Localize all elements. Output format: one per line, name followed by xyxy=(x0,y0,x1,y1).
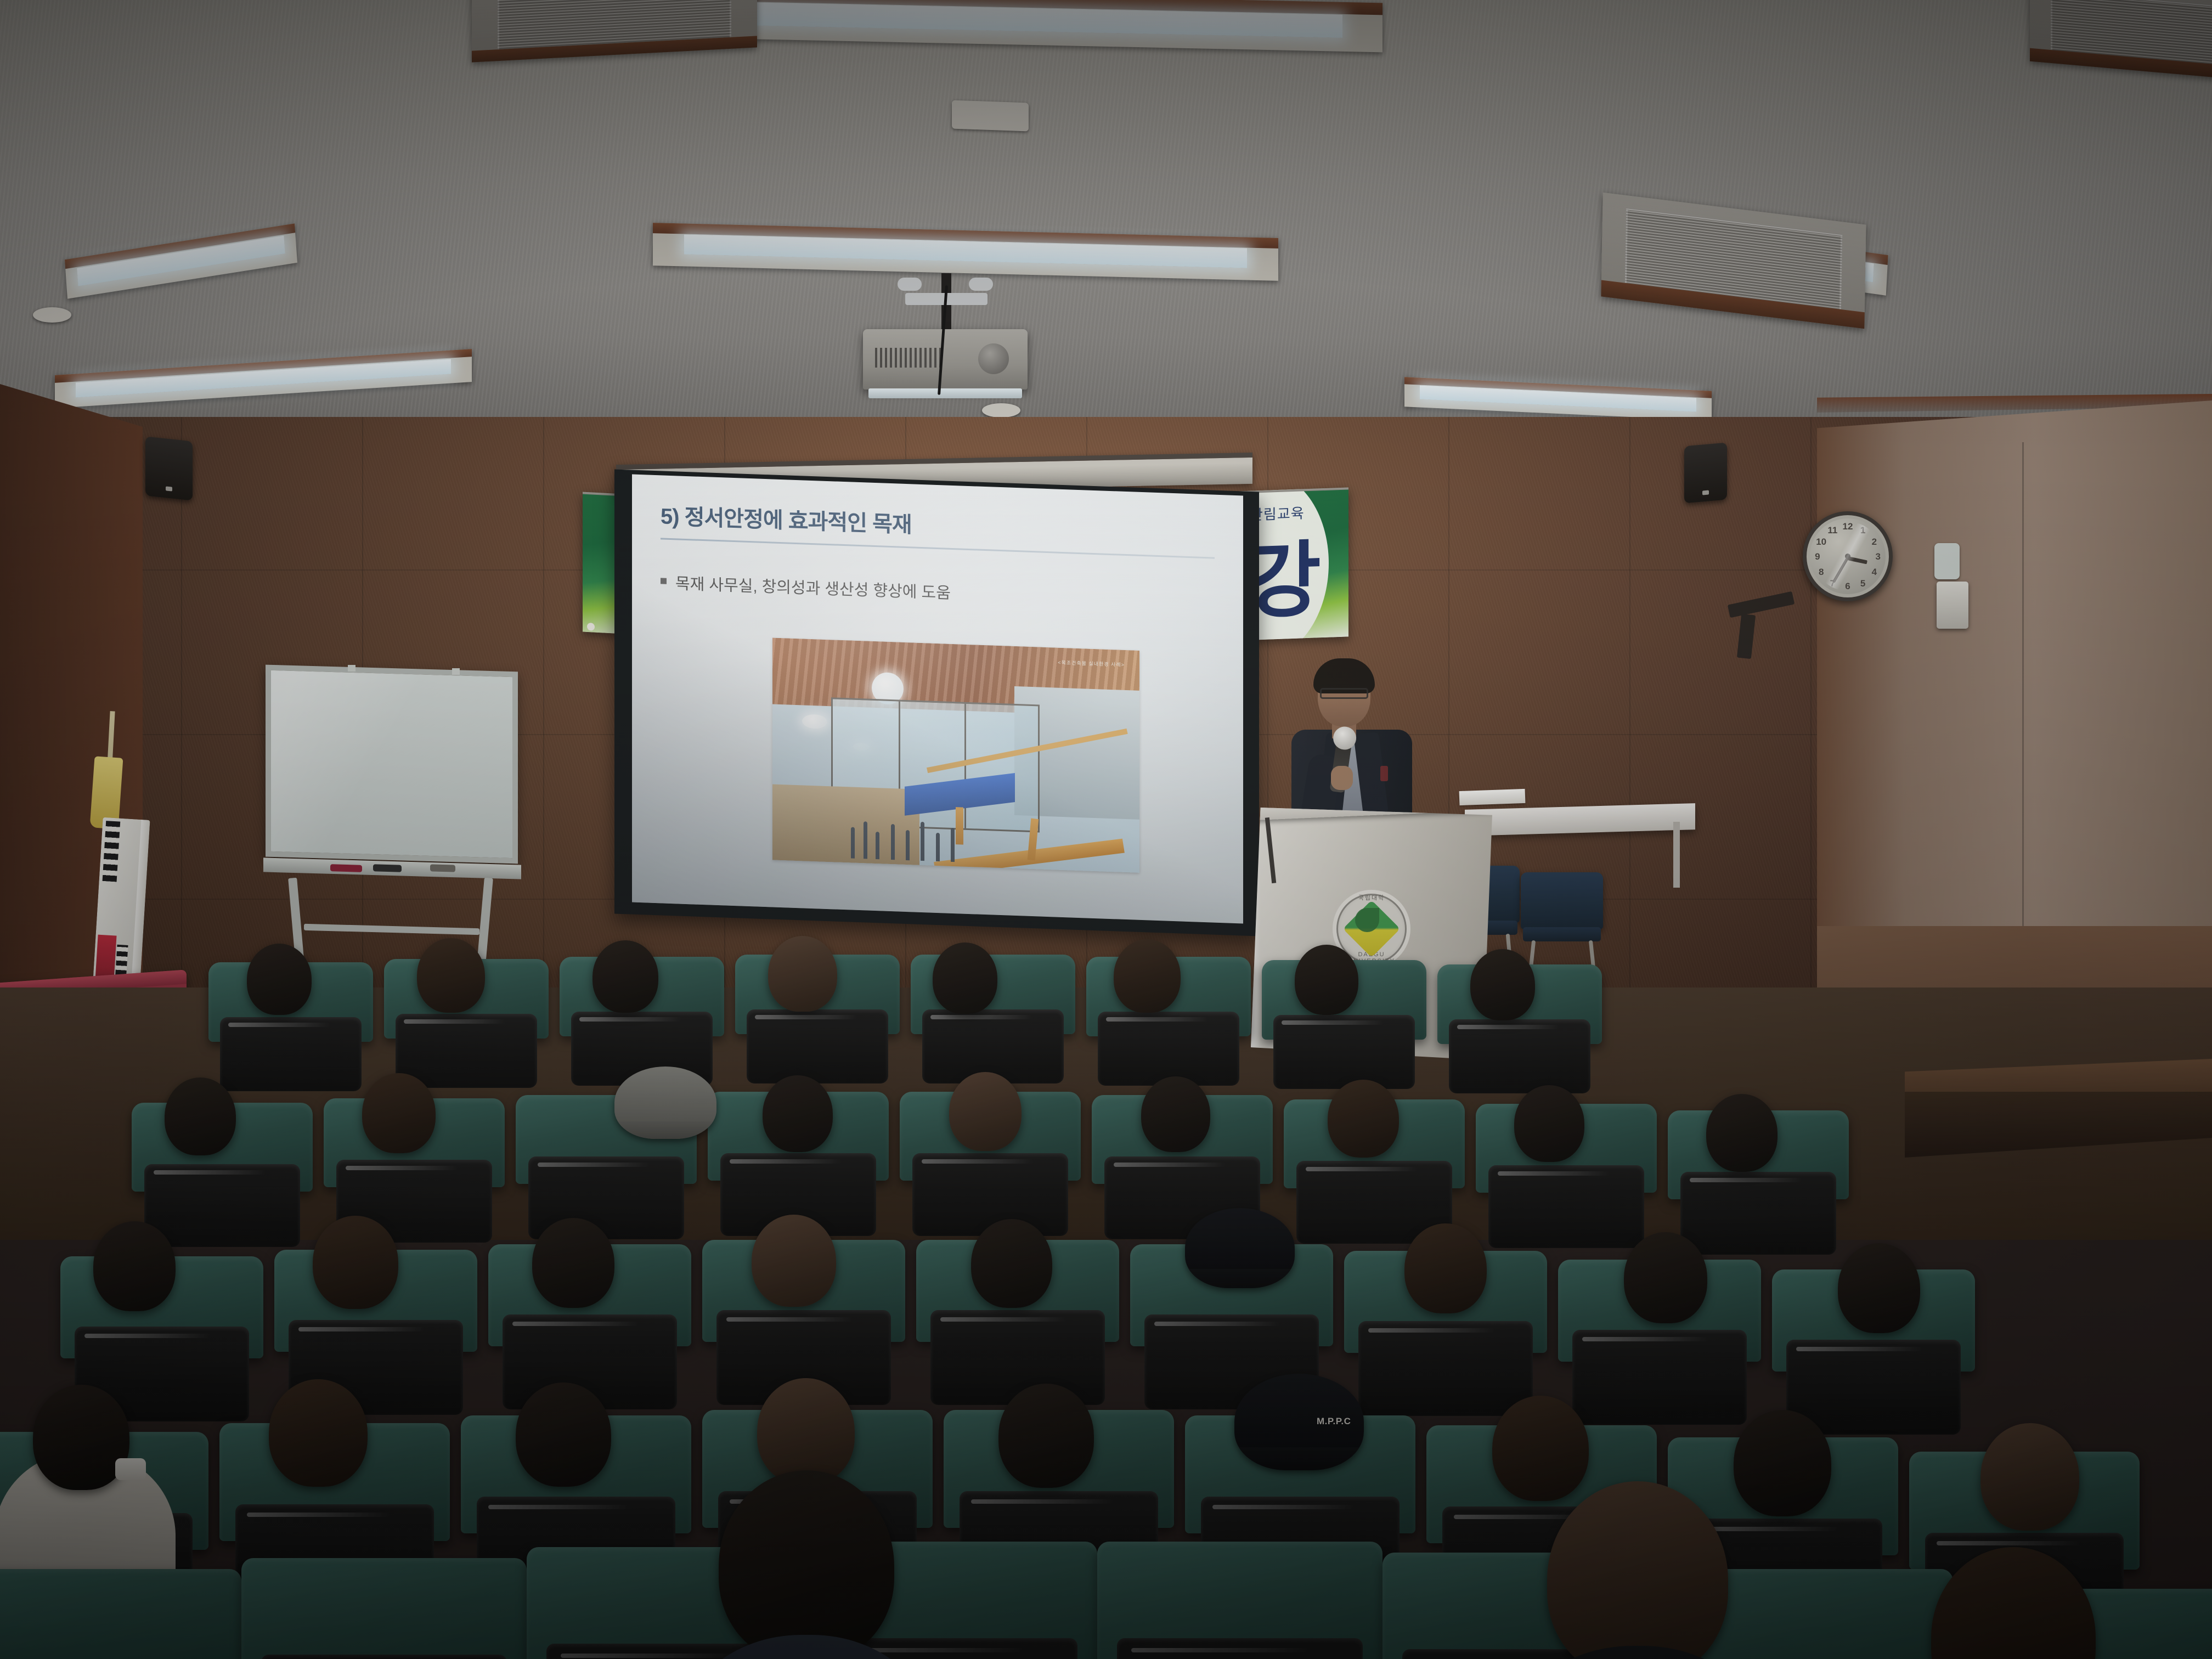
audience-head xyxy=(1980,1423,2079,1531)
audience-head xyxy=(269,1379,368,1487)
projection-screen: 5) 정서안정에 효과적인 목재 목재 사무실, 창의성과 생산성 향상에 도움… xyxy=(632,475,1243,924)
audience-head xyxy=(1404,1223,1487,1313)
photo-mullion xyxy=(964,704,966,828)
audience-head xyxy=(933,943,997,1014)
lecture-hall-photo: 12 1 2 3 4 5 6 7 8 9 10 11 xyxy=(0,0,2212,1659)
clock-face: 12 1 2 3 4 5 6 7 8 9 10 11 xyxy=(1810,518,1886,594)
chair-seat xyxy=(1523,927,1601,941)
cap-brim xyxy=(1185,1269,1295,1288)
slide-bullet-row: 목재 사무실, 창의성과 생산성 향상에 도움 xyxy=(661,570,1215,612)
banner-bead xyxy=(587,623,595,631)
slide-bullet-text: 목재 사무실, 창의성과 생산성 향상에 도움 xyxy=(675,571,951,603)
wall-mounted-box xyxy=(1937,582,1968,629)
whiteboard-marker-black[interactable] xyxy=(373,864,402,872)
photo-people-group xyxy=(846,814,970,862)
audience-head xyxy=(1470,949,1535,1020)
audience-head xyxy=(313,1216,398,1309)
audience-head xyxy=(757,1378,855,1485)
photo-pendant-lamp xyxy=(802,714,827,730)
projector-base xyxy=(868,388,1022,398)
audience-head xyxy=(532,1218,614,1308)
ceiling xyxy=(0,0,2212,450)
projector-bracket xyxy=(969,278,993,291)
papers-on-table xyxy=(1459,789,1526,805)
face-mask xyxy=(115,1458,146,1480)
audience-head xyxy=(1141,1076,1210,1152)
whiteboard xyxy=(266,665,518,864)
audience-head xyxy=(949,1072,1022,1151)
audience-cap-grey xyxy=(614,1066,716,1139)
projector-lens-icon xyxy=(978,343,1009,374)
speaker-led-icon xyxy=(166,486,172,491)
speaker-led-icon xyxy=(1702,490,1709,495)
wall-speaker-left xyxy=(145,436,193,500)
cap-brim xyxy=(1234,1447,1364,1470)
audience-head xyxy=(362,1073,436,1153)
presenter-hand xyxy=(1331,766,1353,790)
clock-glass-reflection xyxy=(1813,522,1882,591)
chair-back xyxy=(1521,872,1603,929)
audience-head xyxy=(516,1383,611,1487)
presentation-slide: 5) 정서안정에 효과적인 목재 목재 사무실, 창의성과 생산성 향상에 도움… xyxy=(632,475,1243,924)
presenter-glasses-icon xyxy=(1320,688,1368,699)
bullet-marker-icon xyxy=(661,578,667,584)
audience-head xyxy=(592,940,658,1013)
audience-head xyxy=(417,938,485,1013)
seal-leaf-icon xyxy=(1355,908,1379,932)
audience-head xyxy=(1114,939,1181,1013)
ceiling-projector xyxy=(863,329,1028,390)
wall-clock: 12 1 2 3 4 5 6 7 8 9 10 11 xyxy=(1803,511,1893,601)
whiteboard-crossbar xyxy=(304,924,479,935)
auditorium-seat[interactable] xyxy=(0,1569,241,1659)
slide-photo: <목조건축물 실내환경 사례> xyxy=(772,637,1139,873)
audience-head xyxy=(93,1221,176,1311)
audience-head xyxy=(1295,945,1358,1015)
auditorium-seat[interactable] xyxy=(241,1558,527,1659)
cap-logo-text: M.P.P.C xyxy=(1317,1416,1351,1427)
whiteboard-eraser[interactable] xyxy=(430,864,455,872)
projector-vents xyxy=(875,348,941,368)
whiteboard-glare xyxy=(271,670,512,858)
audience-head xyxy=(752,1215,836,1307)
audience-head xyxy=(971,1219,1052,1308)
whiteboard-marker-red[interactable] xyxy=(330,864,362,872)
audience-head xyxy=(247,944,312,1015)
audience-head xyxy=(1706,1094,1778,1172)
audience-head xyxy=(1734,1410,1831,1516)
audience-head xyxy=(763,1075,833,1152)
audience-seating: M.P.P.C xyxy=(0,955,2212,1659)
audience-head xyxy=(768,936,837,1012)
whiteboard-clip xyxy=(452,668,460,675)
presenter-badge xyxy=(1380,766,1388,781)
audience-head xyxy=(1492,1396,1589,1501)
audience-head xyxy=(165,1077,236,1155)
table-leg xyxy=(1673,822,1680,888)
seal-top-text: 국립대학 xyxy=(1337,893,1406,902)
audience-head-foreground xyxy=(719,1470,894,1659)
ceiling-shading xyxy=(0,0,2212,450)
audience-head xyxy=(1624,1232,1707,1323)
audience-head xyxy=(1838,1243,1920,1333)
whiteboard-clip xyxy=(348,665,356,672)
audience-cap-mppc: M.P.P.C xyxy=(1234,1374,1364,1470)
wall-speaker-right xyxy=(1684,443,1727,504)
audience-head xyxy=(1514,1085,1584,1162)
cap-brim xyxy=(614,1121,716,1139)
blue-chair[interactable] xyxy=(1521,872,1603,966)
light-switch-plate[interactable] xyxy=(1934,543,1960,579)
audience-head xyxy=(998,1384,1094,1488)
presenter xyxy=(1288,658,1414,823)
auditorium-seat[interactable] xyxy=(1097,1542,1383,1659)
audience-cap-black xyxy=(1185,1208,1295,1288)
projector-bracket xyxy=(898,278,922,291)
audience-head xyxy=(1328,1080,1399,1158)
